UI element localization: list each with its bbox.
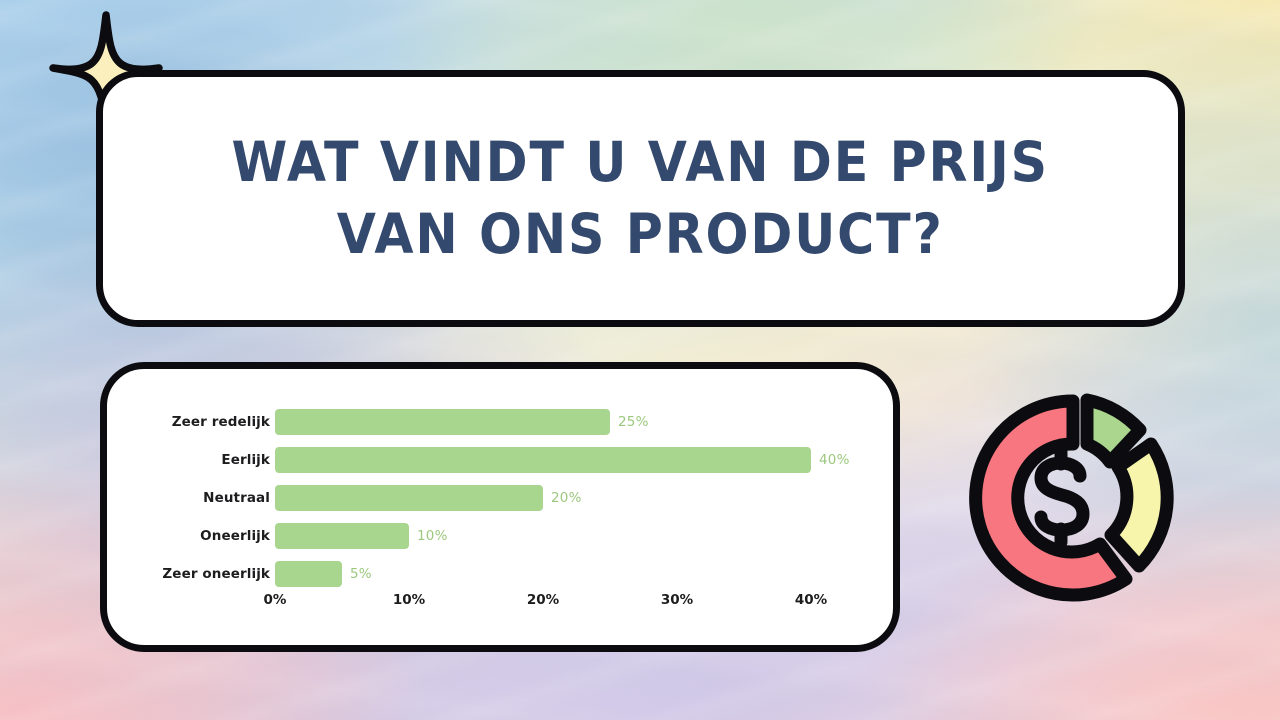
- chart-card: Zeer redelijk25%Eerlijk40%Neutraal20%One…: [100, 362, 900, 652]
- x-axis-tick-label: 10%: [393, 592, 425, 608]
- x-axis-tick-label: 0%: [264, 592, 287, 608]
- bar-category-label: Eerlijk: [107, 452, 270, 468]
- bar-row: Zeer oneerlijk5%: [107, 555, 893, 593]
- page-title: WAT VINDT U VAN DE PRIJS VAN ONS PRODUCT…: [210, 127, 1072, 270]
- bar-value-label: 10%: [417, 528, 448, 544]
- bar-value-label: 5%: [350, 566, 372, 582]
- x-axis: 0%10%20%30%40%: [275, 592, 875, 614]
- x-axis-tick-label: 20%: [527, 592, 559, 608]
- bar-track: 20%: [275, 485, 582, 511]
- title-card: WAT VINDT U VAN DE PRIJS VAN ONS PRODUCT…: [96, 70, 1185, 327]
- dollar-sign-icon: [1041, 452, 1083, 542]
- x-axis-tick-label: 30%: [661, 592, 693, 608]
- bar-value-label: 20%: [551, 490, 582, 506]
- bar-chart-rows: Zeer redelijk25%Eerlijk40%Neutraal20%One…: [107, 403, 893, 593]
- bar-fill[interactable]: [275, 523, 409, 549]
- x-axis-tick-label: 40%: [795, 592, 827, 608]
- donut-chart-dollar-icon: [940, 378, 1192, 618]
- donut-yellow-segment: [1111, 444, 1167, 566]
- bar-track: 10%: [275, 523, 448, 549]
- slide-canvas: WAT VINDT U VAN DE PRIJS VAN ONS PRODUCT…: [0, 0, 1280, 720]
- bar-row: Oneerlijk10%: [107, 517, 893, 555]
- bar-chart: Zeer redelijk25%Eerlijk40%Neutraal20%One…: [107, 369, 893, 645]
- bar-value-label: 40%: [819, 452, 850, 468]
- bar-category-label: Oneerlijk: [107, 528, 270, 544]
- bar-track: 40%: [275, 447, 850, 473]
- bar-track: 25%: [275, 409, 649, 435]
- bar-fill[interactable]: [275, 561, 342, 587]
- bar-category-label: Zeer redelijk: [107, 414, 270, 430]
- bar-row: Eerlijk40%: [107, 441, 893, 479]
- bar-category-label: Zeer oneerlijk: [107, 566, 270, 582]
- bar-fill[interactable]: [275, 485, 543, 511]
- bar-value-label: 25%: [618, 414, 649, 430]
- bar-fill[interactable]: [275, 409, 610, 435]
- bar-row: Neutraal20%: [107, 479, 893, 517]
- bar-category-label: Neutraal: [107, 490, 270, 506]
- bar-track: 5%: [275, 561, 372, 587]
- bar-row: Zeer redelijk25%: [107, 403, 893, 441]
- bar-fill[interactable]: [275, 447, 811, 473]
